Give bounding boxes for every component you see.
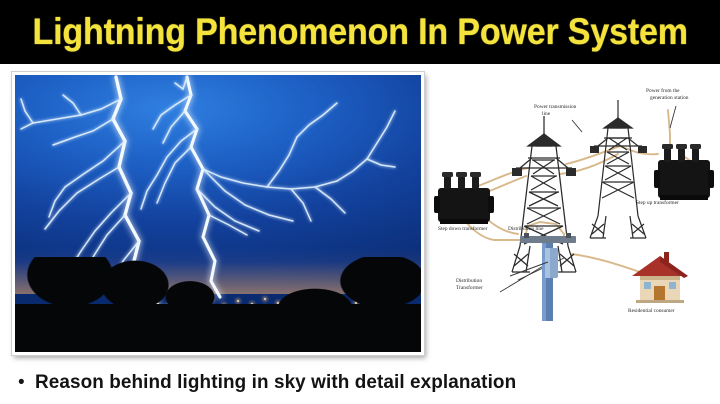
label-power-transmission-line: Power transmission line	[534, 104, 578, 117]
page-title: Lightning Phenomenon In Power System	[32, 11, 687, 53]
label-distribution-transformer: Distribution Transformer	[456, 278, 483, 291]
step-down-transformer-icon	[434, 172, 494, 224]
label-residential-consumer: Residential consumer	[628, 308, 675, 314]
lightning-storm-photo	[15, 75, 421, 352]
label-step-up-transformer: Step up transformer	[636, 199, 679, 206]
power-system-single-line-diagram: Power transmission line Power from the g…	[432, 76, 714, 338]
label-step-down-transformer: Step down transformer	[438, 225, 488, 232]
caption-text: Reason behind lighting in sky with detai…	[35, 371, 516, 394]
tree-silhouette	[15, 257, 421, 352]
caption-row: • Reason behind lighting in sky with det…	[14, 364, 714, 400]
bullet-icon: •	[18, 373, 25, 392]
title-banner: Lightning Phenomenon In Power System	[0, 0, 720, 64]
power-system-diagram-svg: Power transmission line Power from the g…	[432, 76, 714, 338]
lightning-photo-frame	[12, 72, 424, 355]
label-power-from-generation-station: Power from the generation station	[646, 87, 689, 101]
step-up-transformer-icon	[654, 144, 714, 200]
label-distribution-line: Distribution line	[508, 226, 544, 232]
residential-house-icon	[632, 252, 688, 303]
transmission-tower-right	[590, 100, 647, 238]
